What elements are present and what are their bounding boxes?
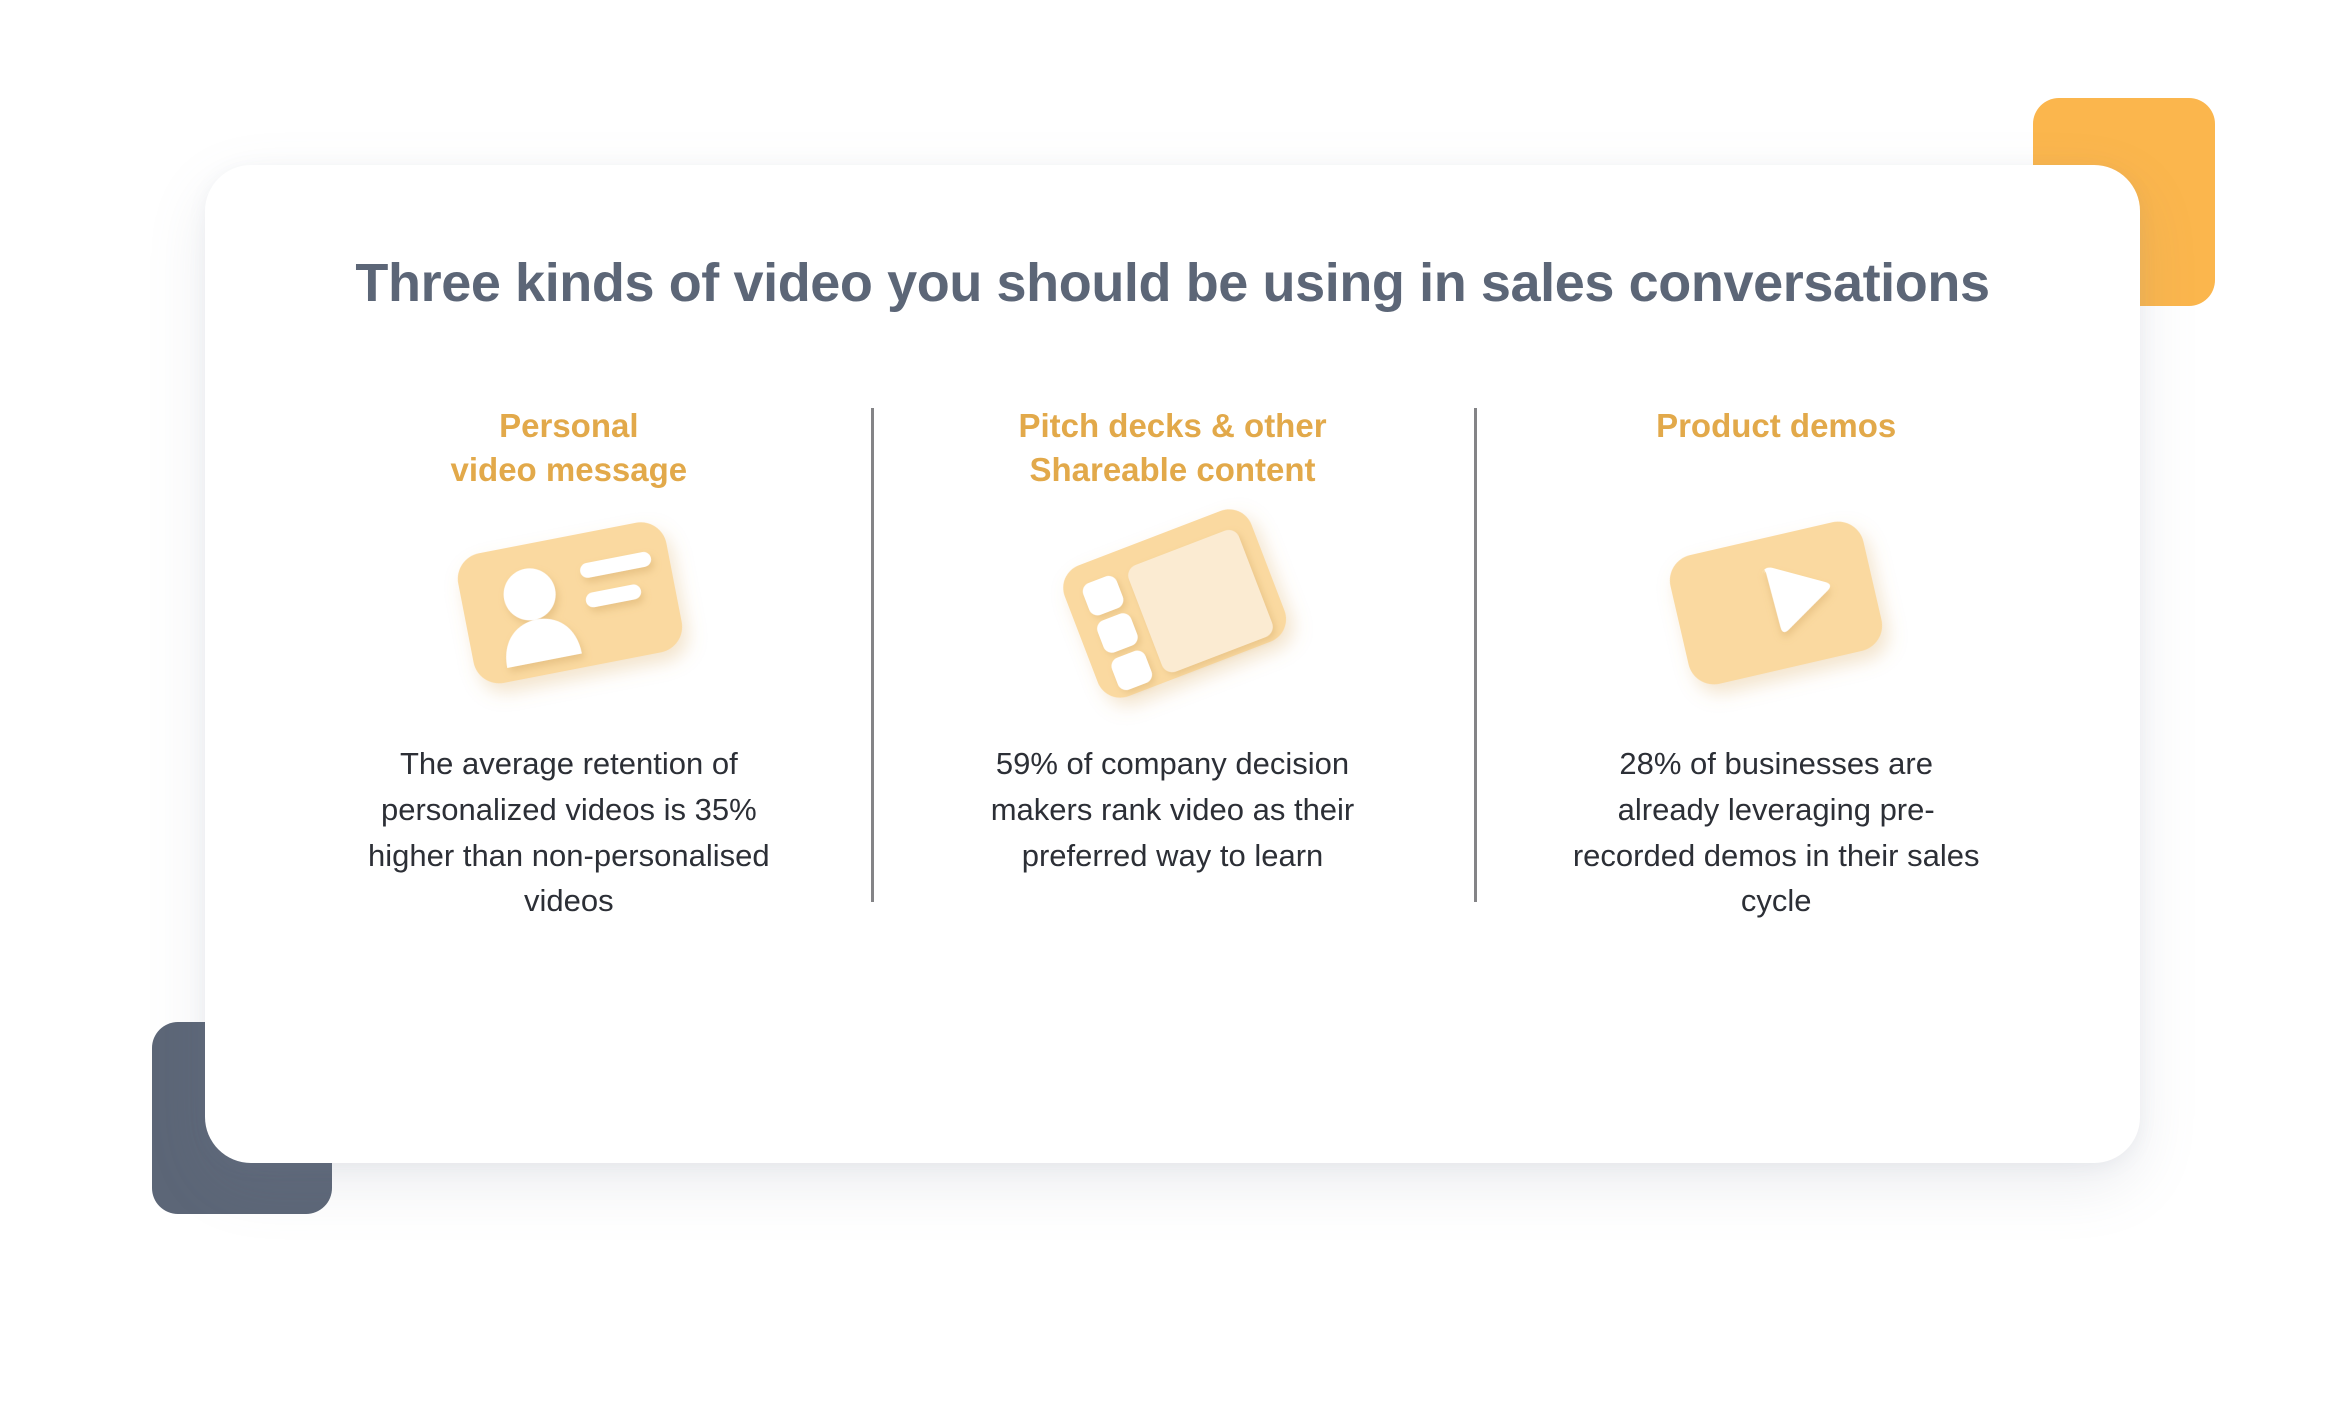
column-heading: Personal video message [451, 404, 688, 494]
slide-deck-icon [1033, 510, 1313, 695]
play-video-icon [1636, 510, 1916, 695]
column-heading-line1: Pitch decks & other [1018, 404, 1326, 448]
contact-card-icon [429, 510, 709, 695]
column-body-text: 28% of businesses are already leveraging… [1566, 741, 1986, 925]
column-heading-line1: Product demos [1656, 404, 1896, 448]
page-title: Three kinds of video you should be using… [205, 165, 2140, 316]
column-product-demos: Product demos [1474, 404, 2078, 925]
column-body-text: The average retention of personalized vi… [359, 741, 779, 925]
column-heading: Product demos [1656, 404, 1896, 494]
columns-container: Personal video message [205, 404, 2140, 925]
column-heading-line2: Shareable content [1018, 448, 1326, 492]
column-heading: Pitch decks & other Shareable content [1018, 404, 1326, 494]
column-pitch-decks: Pitch decks & other Shareable content [871, 404, 1475, 879]
column-heading-line1: Personal [451, 404, 688, 448]
content-card: Three kinds of video you should be using… [205, 165, 2140, 1163]
infographic-canvas: Three kinds of video you should be using… [0, 0, 2348, 1412]
column-heading-line2: video message [451, 448, 688, 492]
column-personal-video-message: Personal video message [267, 404, 871, 925]
column-body-text: 59% of company decision makers rank vide… [963, 741, 1383, 879]
